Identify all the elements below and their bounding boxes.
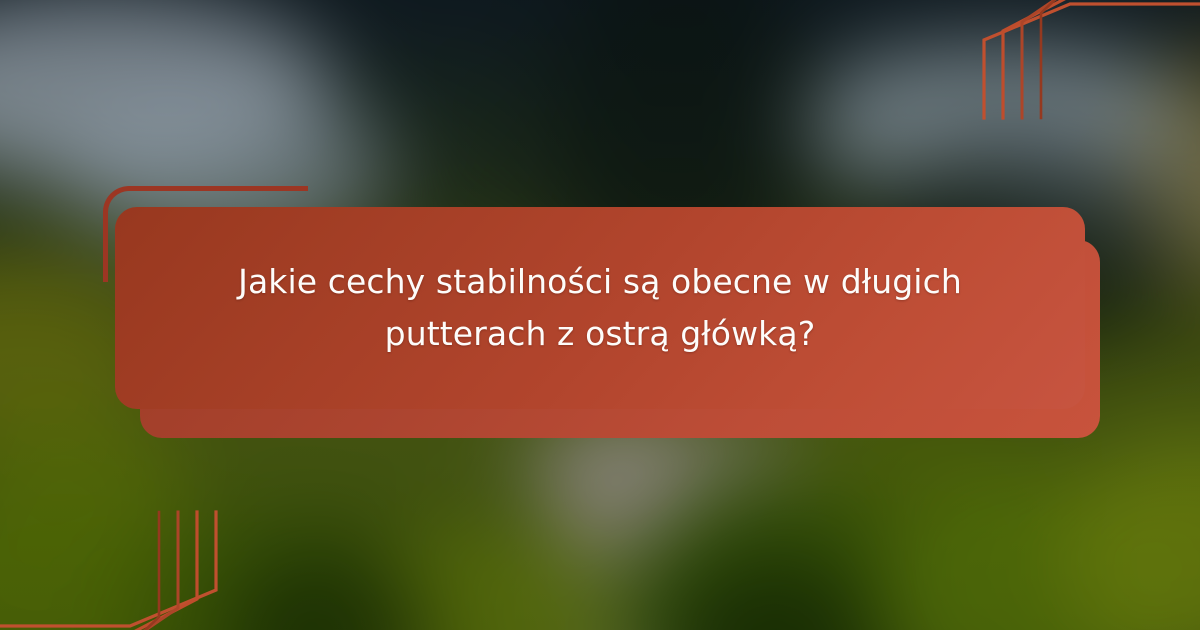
social-card-canvas: Jakie cechy stabilności są obecne w dług… [0,0,1200,630]
question-text-block: Jakie cechy stabilności są obecne w dług… [115,207,1085,409]
question-card: Jakie cechy stabilności są obecne w dług… [103,186,1113,444]
question-line-1: Jakie cechy stabilności są obecne w dług… [238,256,962,308]
question-line-2: putterach z ostrą główką? [385,308,816,360]
